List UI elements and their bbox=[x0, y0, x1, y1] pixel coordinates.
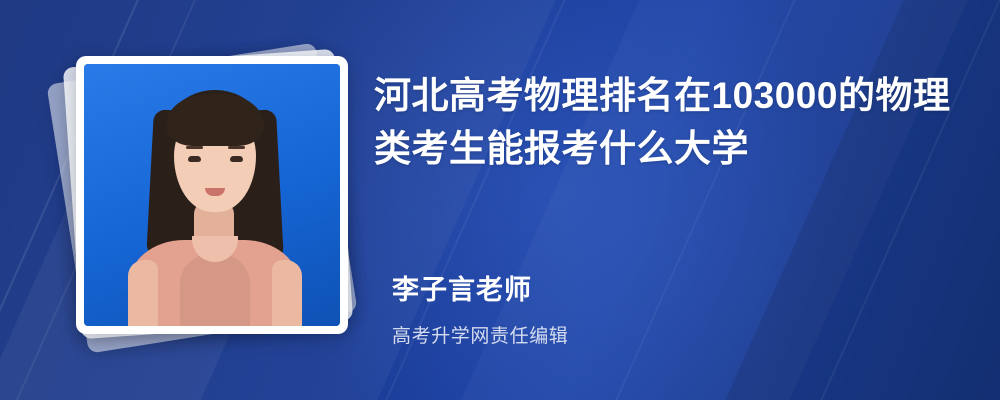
author-portrait bbox=[84, 64, 340, 326]
article-headline: 河北高考物理排名在103000的物理类考生能报考什么大学 bbox=[374, 70, 964, 175]
portrait-arm-right bbox=[272, 260, 302, 326]
author-name: 李子言老师 bbox=[392, 268, 932, 307]
portrait-brow-left bbox=[186, 146, 203, 149]
photo-card-stack bbox=[46, 44, 366, 364]
portrait-brow-right bbox=[228, 146, 245, 149]
portrait-arm-left bbox=[128, 260, 158, 326]
headline-block: 河北高考物理排名在103000的物理类考生能报考什么大学 bbox=[374, 70, 964, 175]
portrait-eye-left bbox=[188, 156, 201, 162]
photo-card-front bbox=[76, 56, 348, 334]
portrait-eye-right bbox=[230, 156, 243, 162]
byline-block: 李子言老师 高考升学网责任编辑 bbox=[392, 268, 932, 348]
portrait-fringe bbox=[166, 94, 264, 146]
article-banner: 河北高考物理排名在103000的物理类考生能报考什么大学 李子言老师 高考升学网… bbox=[0, 0, 1000, 400]
portrait-dress-shading bbox=[180, 254, 250, 326]
author-role: 高考升学网责任编辑 bbox=[392, 321, 932, 348]
